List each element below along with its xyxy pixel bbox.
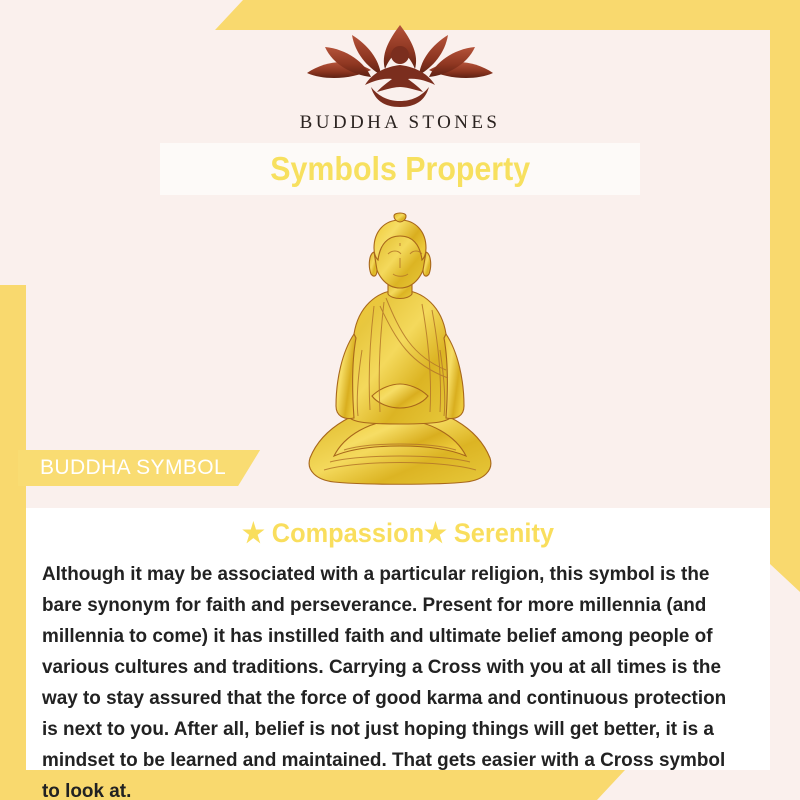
page-title: Symbols Property	[270, 150, 530, 188]
poster-canvas: BUDDHA STONES Symbols Property	[0, 0, 800, 800]
content-subtitle: ★ Compassion★ Serenity	[48, 518, 747, 549]
title-banner: Symbols Property	[160, 143, 640, 195]
brand-logo: BUDDHA STONES	[0, 0, 800, 134]
content-paragraph: Although it may be associated with a par…	[42, 559, 733, 800]
brand-wordmark: BUDDHA STONES	[0, 112, 800, 134]
content-panel: ★ Compassion★ Serenity Although it may b…	[26, 508, 770, 770]
section-ribbon: BUDDHA SYMBOL	[18, 450, 260, 486]
lotus-meditation-figure-icon	[0, 22, 800, 110]
ribbon-label: BUDDHA SYMBOL	[40, 456, 226, 480]
